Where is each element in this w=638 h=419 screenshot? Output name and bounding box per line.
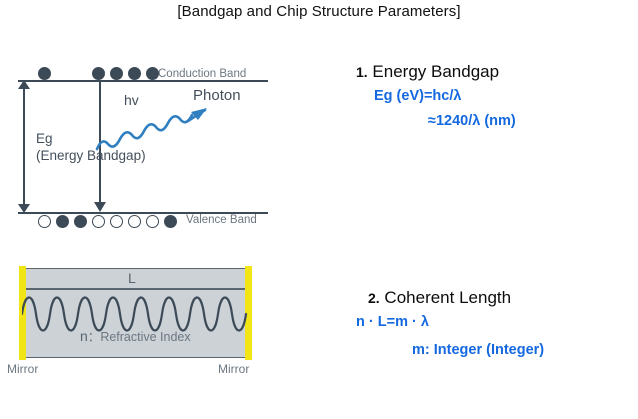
- cavity-diagram: L n：Refractive Index Mirror Mirror: [0, 258, 320, 378]
- section-energy-bandgap: 1. Energy Bandgap Eg (eV)=hc/λ ≈1240/λ (…: [350, 62, 630, 129]
- electron-dot: [164, 215, 177, 228]
- eg-arrow-shaft: [23, 85, 25, 209]
- electron-transition-arrow-head: [94, 202, 106, 212]
- photon-label: Photon: [193, 87, 241, 104]
- coherent-length-formula-note: m: Integer (Integer): [350, 342, 630, 358]
- band-diagram: Conduction Band Valence Band Eg (Energy …: [0, 30, 320, 215]
- refractive-index-label: n：Refractive Index: [80, 326, 191, 345]
- hv-label: hv: [124, 92, 139, 108]
- section-1-number: 1.: [356, 64, 368, 80]
- coherent-length-formula-primary: n · L=m · λ: [350, 314, 630, 330]
- section-2-heading: 2. Coherent Length: [350, 288, 630, 308]
- mirror-right-label: Mirror: [218, 362, 249, 376]
- hole-dot: [110, 215, 123, 228]
- eg-label-line1: Eg: [36, 131, 53, 146]
- section-2-title: Coherent Length: [384, 288, 511, 307]
- refractive-index-text: Refractive Index: [100, 330, 190, 344]
- electron-dot: [74, 215, 87, 228]
- refractive-index-separator: ：: [88, 330, 101, 344]
- hole-dot: [146, 215, 159, 228]
- energy-bandgap-formula-primary: Eg (eV)=hc/λ: [350, 88, 630, 104]
- section-2-number: 2.: [368, 290, 380, 306]
- electron-dot: [56, 215, 69, 228]
- photon-wave-arrow-icon: [95, 102, 220, 154]
- section-1-title: Energy Bandgap: [372, 62, 499, 81]
- energy-bandgap-formula-approx: ≈1240/λ (nm): [350, 113, 630, 129]
- refractive-index-symbol: n: [80, 328, 88, 344]
- cavity-length-label: L: [128, 270, 136, 286]
- page-title: [Bandgap and Chip Structure Parameters]: [0, 3, 638, 20]
- hole-dot: [38, 215, 51, 228]
- section-1-heading: 1. Energy Bandgap: [350, 62, 630, 82]
- section-coherent-length: 2. Coherent Length n · L=m · λ m: Intege…: [350, 288, 630, 358]
- hole-dot: [128, 215, 141, 228]
- hole-dot: [92, 215, 105, 228]
- eg-arrow-head-down: [18, 204, 30, 213]
- mirror-left-label: Mirror: [7, 362, 38, 376]
